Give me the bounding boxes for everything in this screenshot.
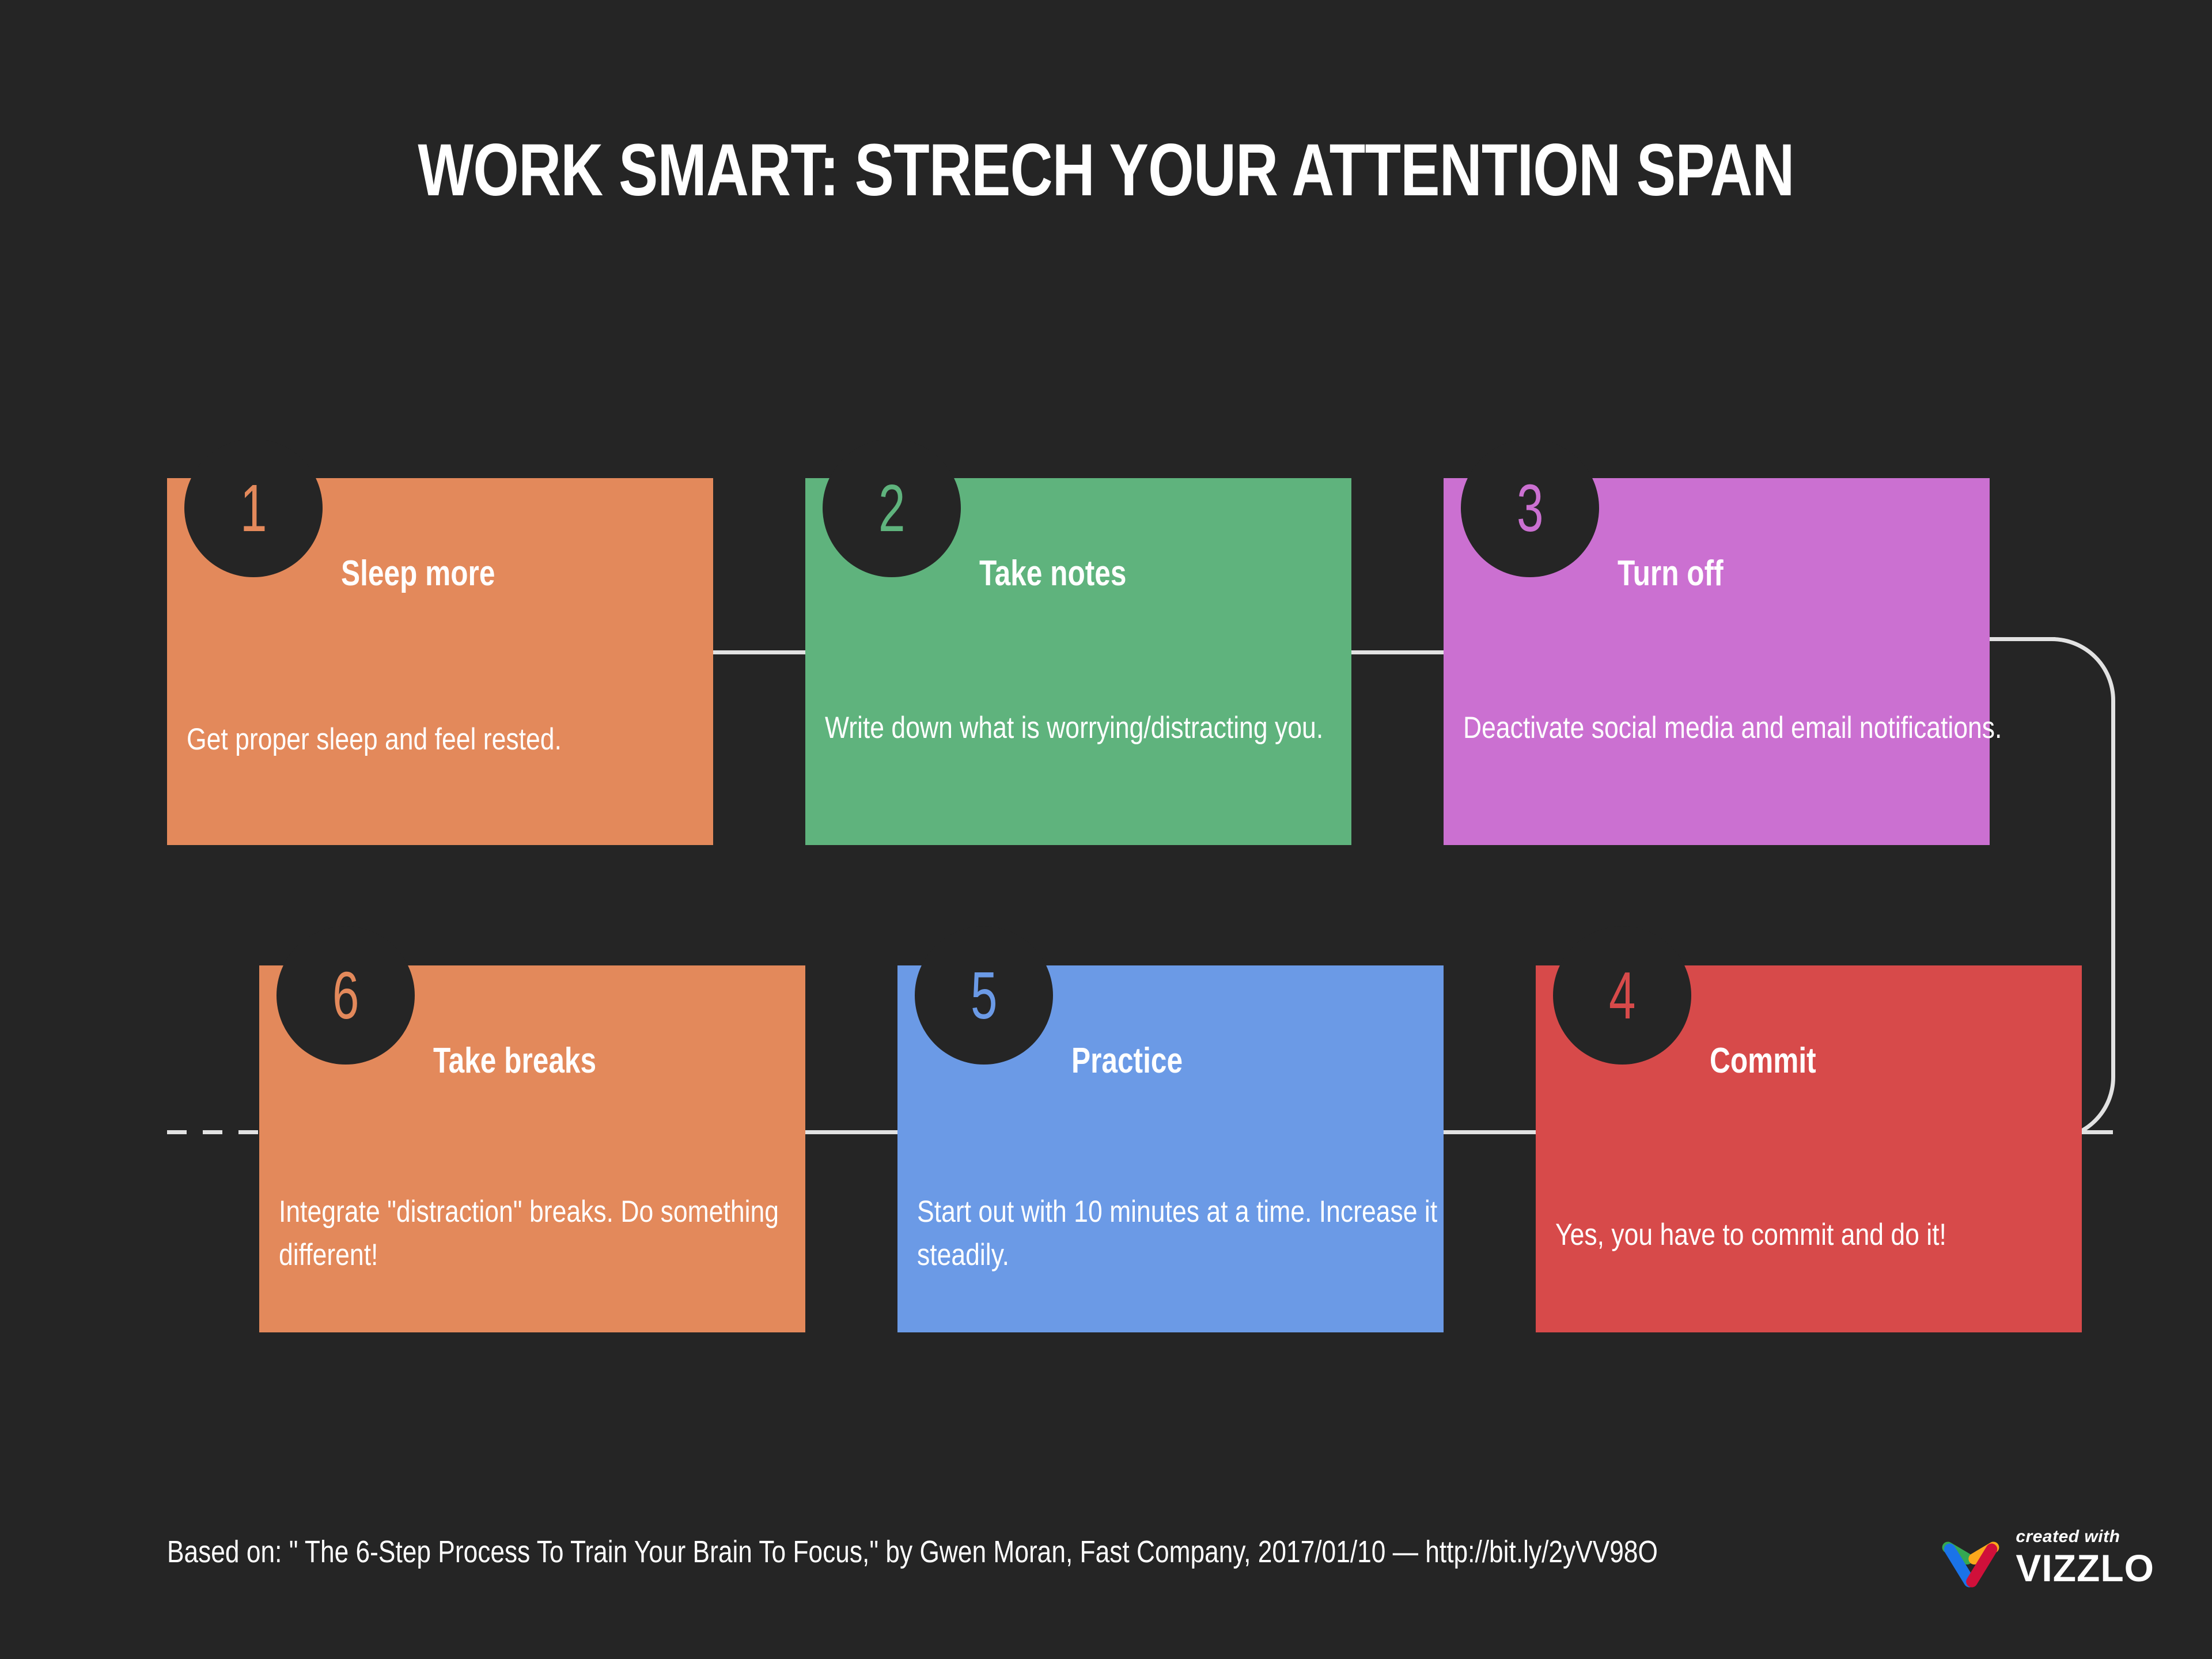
vizzlo-wordmark: created with VIZZLO [2016,1528,2154,1587]
step-number-4: 4 [1609,962,1635,1029]
step-card-4[interactable]: 4 Commit Yes, you have to commit and do … [1536,965,2082,1332]
step-card-6[interactable]: 6 Take breaks Integrate "distraction" br… [259,965,805,1332]
step-badge-1: 1 [184,439,323,577]
connector-step4-step5 [1440,1130,1538,1134]
step-card-5[interactable]: 5 Practice Start out with 10 minutes at … [897,965,1444,1332]
vizzlo-brand-name: VIZZLO [2016,1549,2154,1587]
step-number-2: 2 [878,475,905,541]
connector-terminal-dashed [167,1130,260,1134]
connector-step5-step6 [801,1130,899,1134]
step-title-1: Sleep more [341,553,495,594]
connector-step2-step3 [1348,650,1446,654]
step-body-2: Write down what is worrying/distracting … [825,706,1366,749]
page-title: WORK SMART: STRECH YOUR ATTENTION SPAN [221,128,1991,213]
step-body-6: Integrate "distraction" breaks. Do somet… [279,1190,820,1277]
step-card-3[interactable]: 3 Turn off Deactivate social media and e… [1444,478,1990,845]
step-number-5: 5 [971,962,997,1029]
step-title-6: Take breaks [433,1040,596,1081]
step-card-2[interactable]: 2 Take notes Write down what is worrying… [805,478,1351,845]
step-body-4: Yes, you have to commit and do it! [1555,1213,2097,1256]
step-badge-4: 4 [1553,926,1691,1065]
step-title-4: Commit [1710,1040,1816,1081]
step-body-3: Deactivate social media and email notifi… [1463,706,2005,749]
step-badge-3: 3 [1461,439,1599,577]
step-title-2: Take notes [979,553,1126,594]
step-badge-6: 6 [276,926,415,1065]
step-badge-2: 2 [823,439,961,577]
step-title-5: Practice [1071,1040,1183,1081]
step-number-6: 6 [332,962,359,1029]
step-card-1[interactable]: 1 Sleep more Get proper sleep and feel r… [167,478,713,845]
vizzlo-created-with-label: created with [2016,1528,2154,1546]
source-attribution: Based on: " The 6-Step Process To Train … [167,1534,1658,1570]
step-number-1: 1 [240,475,267,541]
step-body-5: Start out with 10 minutes at a time. Inc… [917,1190,1459,1277]
step-title-3: Turn off [1618,553,1724,594]
vizzlo-branding[interactable]: created with VIZZLO [1941,1528,2154,1588]
step-badge-5: 5 [915,926,1053,1065]
infographic-canvas: WORK SMART: STRECH YOUR ATTENTION SPAN 1… [0,0,2212,1659]
connector-step1-step2 [712,650,810,654]
step-body-1: Get proper sleep and feel rested. [187,718,728,761]
step-number-3: 3 [1517,475,1543,541]
vizzlo-logo-icon [1941,1528,2001,1588]
